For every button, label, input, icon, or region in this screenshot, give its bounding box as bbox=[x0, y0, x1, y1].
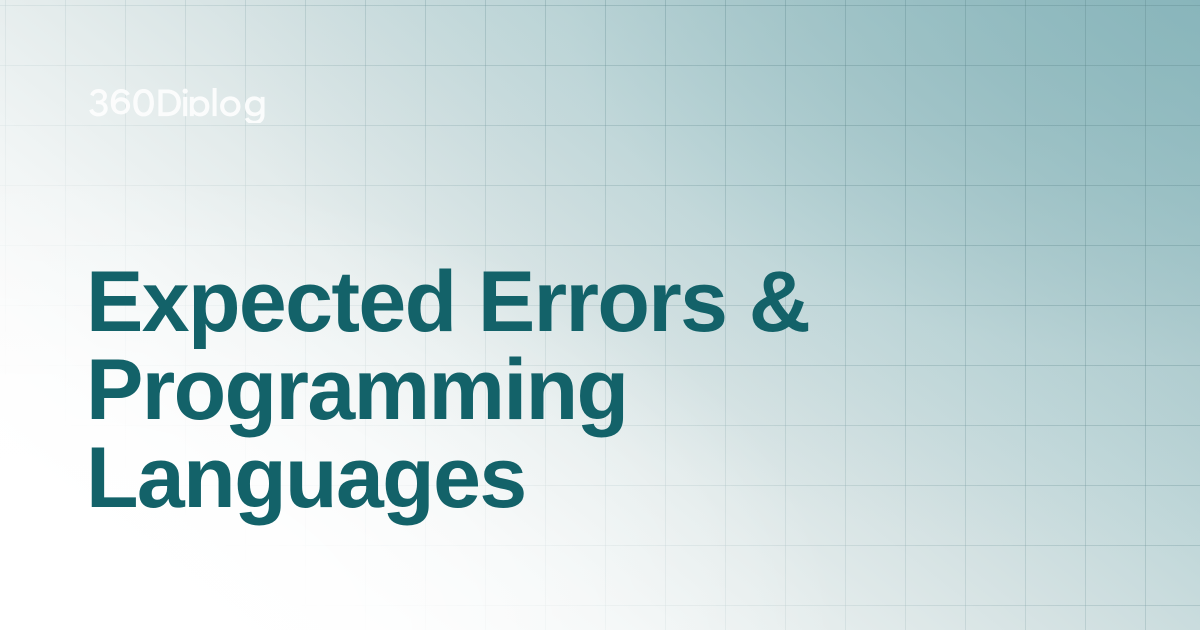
title-line-2: Programming bbox=[86, 346, 1086, 434]
360dialog-wordmark-logo bbox=[84, 85, 272, 123]
title-line-3: Languages bbox=[86, 434, 1086, 522]
social-card: Expected Errors & Programming Languages bbox=[0, 0, 1200, 630]
page-title: Expected Errors & Programming Languages bbox=[86, 258, 1086, 522]
title-line-1: Expected Errors & bbox=[86, 258, 1086, 346]
brand-logo bbox=[84, 84, 272, 124]
